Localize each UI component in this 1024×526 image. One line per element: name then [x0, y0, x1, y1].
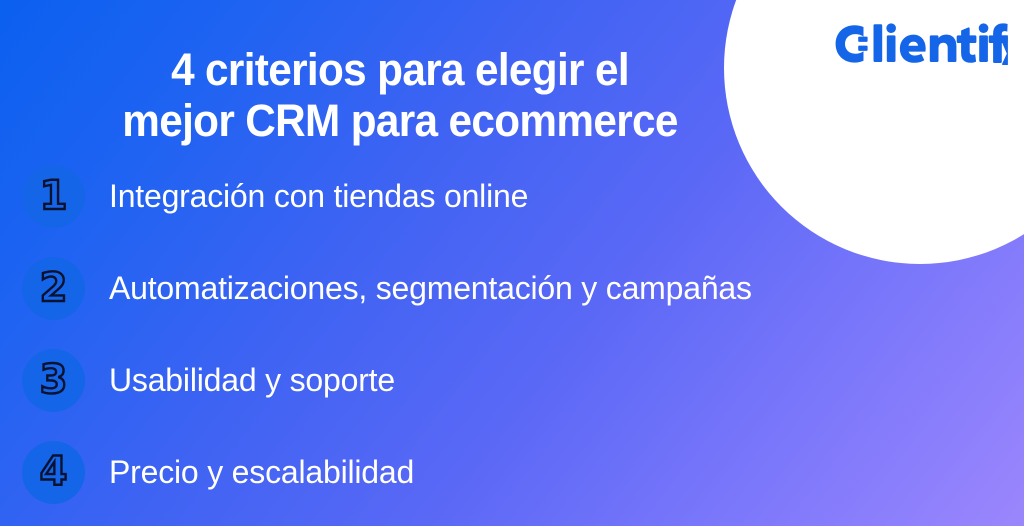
list-item: 3 Usabilidad y soporte	[22, 349, 1004, 412]
criterion-number-badge: 3	[22, 349, 85, 412]
criterion-numeral: 2	[40, 268, 68, 308]
criterion-number-badge: 1	[22, 165, 85, 228]
criteria-list: 1 Integración con tiendas online 2 Autom…	[22, 165, 1004, 504]
list-item: 2 Automatizaciones, segmentación y campa…	[22, 257, 1004, 320]
list-item: 1 Integración con tiendas online	[22, 165, 1004, 228]
page-title: 4 criterios para elegir el mejor CRM par…	[24, 44, 776, 147]
criterion-numeral: 1	[40, 176, 68, 216]
criterion-label: Automatizaciones, segmentación y campaña…	[109, 271, 752, 306]
criterion-label: Precio y escalabilidad	[109, 455, 414, 490]
criterion-numeral: 3	[40, 360, 68, 400]
criterion-number-badge: 2	[22, 257, 85, 320]
criterion-label: Integración con tiendas online	[109, 179, 528, 214]
promo-banner: 4 criterios para elegir el mejor CRM par…	[0, 0, 1024, 526]
clientify-wordmark-icon	[832, 23, 1008, 65]
criterion-number-badge: 4	[22, 441, 85, 504]
criterion-label: Usabilidad y soporte	[109, 363, 395, 398]
criterion-numeral: 4	[40, 452, 68, 492]
clientify-logo[interactable]	[832, 22, 1008, 66]
list-item: 4 Precio y escalabilidad	[22, 441, 1004, 504]
